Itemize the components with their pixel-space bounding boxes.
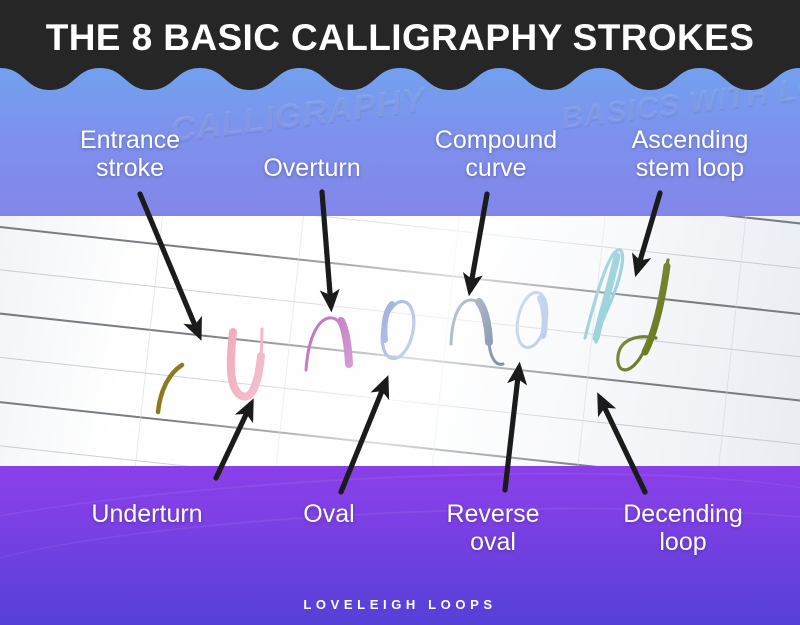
stroke-compound-curve [451,300,503,364]
infographic-poster: CALLIGRAPHY BASICS WITH LOVELEIGH [0,0,800,625]
label-overturn: Overturn [232,154,392,182]
stroke-overturn-shade [341,321,349,364]
header-bar: THE 8 BASIC CALLIGRAPHY STROKES [0,0,800,95]
practice-paper-photo [0,216,800,466]
stroke-reverse-oval-shade [540,298,545,336]
label-ascending-stem-loop: Ascending stem loop [590,126,790,182]
label-entrance-stroke: Entrance stroke [34,126,226,182]
calligraphy-strokes [0,216,800,466]
label-decending-loop: Decending loop [588,500,778,556]
stroke-underturn [231,332,261,397]
label-underturn: Underturn [52,500,242,528]
footer-brand: LOVELEIGH LOOPS [0,597,800,612]
stroke-entrance-stroke [158,365,182,412]
label-compound-curve: Compound curve [404,126,588,182]
stroke-oval-shade [384,304,392,340]
page-title: THE 8 BASIC CALLIGRAPHY STROKES [0,19,800,56]
stroke-underturn-tail [261,329,262,356]
stroke-compound-curve-shade [479,302,489,342]
label-reverse-oval: Reverse oval [412,500,574,556]
label-oval: Oval [258,500,400,528]
